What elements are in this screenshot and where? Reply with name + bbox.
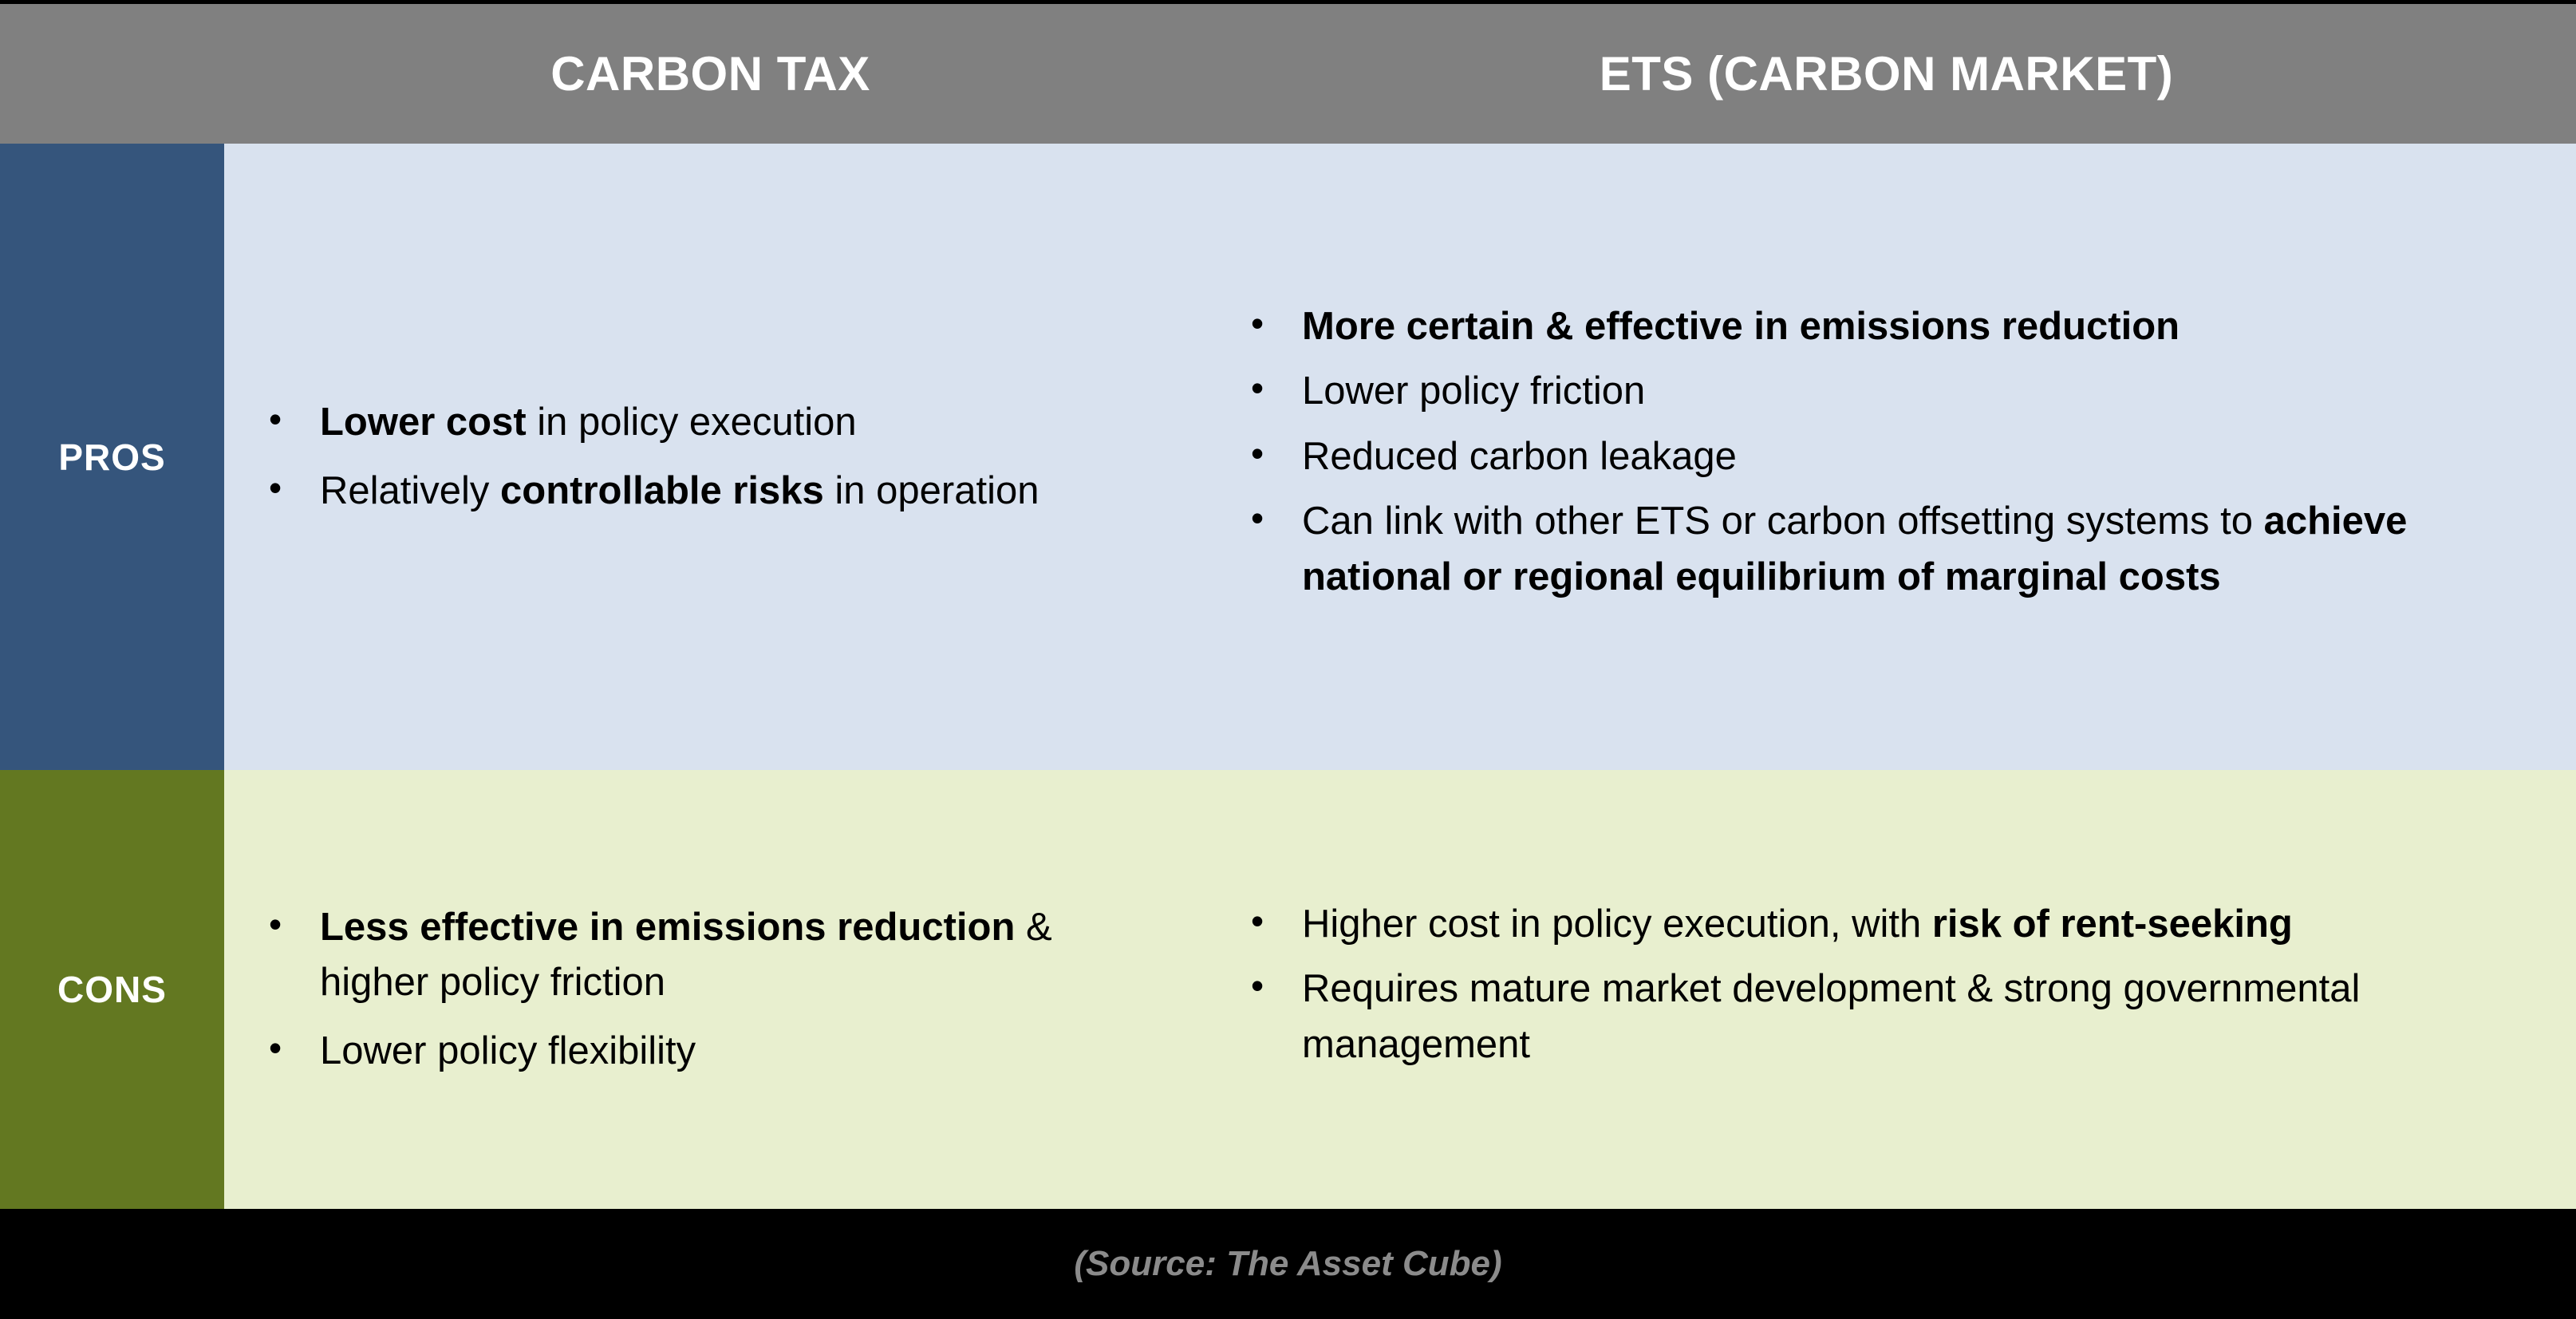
footer-bar: (Source: The Asset Cube) [0,1209,2576,1319]
bullet-text: in operation [824,469,1039,512]
bullet-text: Relatively [320,469,500,512]
bullet-text: Reduced carbon leakage [1302,435,1737,478]
row-label-cons: CONS [0,770,224,1209]
bullet-text-emphasis: Less effective in emissions reduction [320,906,1015,949]
source-attribution: (Source: The Asset Cube) [1074,1244,1501,1284]
bullet-text: Lower policy friction [1302,369,1645,413]
bullet-item: Reduced carbon leakage [1245,429,2520,485]
row-label-pros: PROS [0,144,224,770]
bullet-text: Higher cost in policy execution, with [1302,902,1932,946]
bullet-text: Can link with other ETS or carbon offset… [1302,500,2264,543]
table-header-row: CARBON TAX ETS (CARBON MARKET) [0,4,2576,144]
bullet-item: Relatively controllable risks in operati… [262,464,1149,519]
bullet-item: Higher cost in policy execution, with ri… [1245,897,2520,953]
cell-pros-carbon-tax: Lower cost in policy executionRelatively… [224,144,1197,770]
bullet-text: Lower policy flexibility [320,1029,696,1072]
cell-pros-ets: More certain & effective in emissions re… [1197,144,2576,770]
header-title-ets: ETS (CARBON MARKET) [1600,50,2173,98]
bullet-item: Can link with other ETS or carbon offset… [1245,494,2520,605]
table-row-cons: CONS Less effective in emissions reducti… [0,770,2576,1209]
bullet-text-emphasis: More certain & effective in emissions re… [1302,305,2180,348]
bullet-list-pros-carbon-tax: Lower cost in policy executionRelatively… [262,395,1149,519]
header-cell-ets: ETS (CARBON MARKET) [1197,4,2576,144]
header-corner-cell [0,4,224,144]
table-row-pros: PROS Lower cost in policy executionRelat… [0,144,2576,770]
bullet-list-pros-ets: More certain & effective in emissions re… [1245,299,2520,615]
bullet-text: in policy execution [527,401,857,444]
cell-cons-ets: Higher cost in policy execution, with ri… [1197,770,2576,1209]
bullet-text-emphasis: risk of rent-seeking [1932,902,2293,946]
cell-cons-carbon-tax: Less effective in emissions reduction & … [224,770,1197,1209]
bullet-list-cons-ets: Higher cost in policy execution, with ri… [1245,897,2520,1083]
bullet-item: Lower policy friction [1245,364,2520,420]
bullet-item: Lower policy flexibility [262,1024,1149,1080]
bullet-item: More certain & effective in emissions re… [1245,299,2520,355]
header-cell-carbon-tax: CARBON TAX [224,4,1197,144]
bullet-item: Less effective in emissions reduction & … [262,900,1149,1011]
header-title-carbon-tax: CARBON TAX [550,50,870,98]
bullet-item: Requires mature market development & str… [1245,962,2520,1072]
bullet-item: Lower cost in policy execution [262,395,1149,451]
bullet-text: Requires mature market development & str… [1302,967,2360,1066]
bullet-text-emphasis: controllable risks [500,469,824,512]
bullet-text-emphasis: Lower cost [320,401,527,444]
bullet-list-cons-carbon-tax: Less effective in emissions reduction & … [262,900,1149,1080]
comparison-table: CARBON TAX ETS (CARBON MARKET) PROS Lowe… [0,0,2576,1319]
